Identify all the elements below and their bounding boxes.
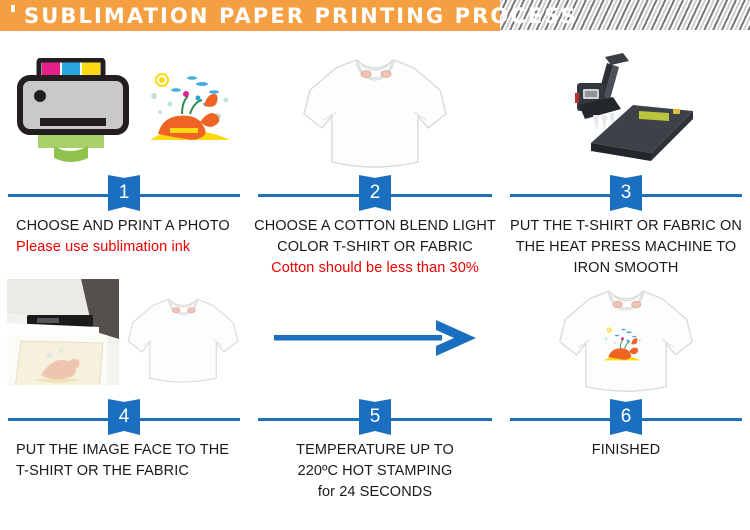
right-arrow-icon [270,314,480,362]
heat-press-machine-image [551,49,701,171]
step-2-caption-line-2: COLOR T-SHIRT OR FABRIC [250,237,500,258]
step-5-caption: TEMPERATURE UP TO 220ºC HOT STAMPING for… [250,430,500,503]
step-1: 1 CHOOSE AND PRINT A PHOTO Please use su… [0,36,248,264]
printed-sublimation-paper-photo [7,279,119,397]
step-5: 5 TEMPERATURE UP TO 220ºC HOT STAMPING f… [250,268,500,518]
step-2-artwork [250,36,500,184]
dinosaur-artwork-image [140,70,236,150]
step-1-caption: CHOOSE AND PRINT A PHOTO Please use subl… [0,206,248,258]
step-2: 2 CHOOSE A COTTON BLEND LIGHT COLOR T-SH… [250,36,500,264]
step-6-caption-line-1: FINISHED [502,440,750,461]
step-3-artwork [502,36,750,184]
step-1-note: Please use sublimation ink [16,237,248,258]
step-1-badge: 1 [108,175,140,211]
white-tshirt-image [125,284,241,392]
step-4-caption-line-1: PUT THE IMAGE FACE TO THE [16,440,248,461]
step-3: 3 PUT THE T-SHIRT OR FABRIC ON THE HEAT … [502,36,750,264]
step-6-badge: 6 [610,399,642,435]
finished-printed-tshirt-image [556,274,696,402]
step-1-artwork [0,36,248,184]
step-2-divider: 2 [250,184,500,206]
square-tick-icon [11,5,15,12]
step-4-artwork [0,268,248,408]
step-6-divider: 6 [502,408,750,430]
step-2-badge: 2 [359,175,391,211]
step-4-caption: PUT THE IMAGE FACE TO THE T-SHIRT OR THE… [0,430,248,482]
step-6: 6 FINISHED [502,268,750,518]
step-3-caption-line-2: THE HEAT PRESS MACHINE TO [502,237,750,258]
step-3-caption-line-1: PUT THE T-SHIRT OR FABRIC ON [502,216,750,237]
step-4-caption-line-2: T-SHIRT OR THE FABRIC [16,461,248,482]
steps-row-bottom: 4 PUT THE IMAGE FACE TO THE T-SHIRT OR T… [0,268,750,518]
steps-row-top: 1 CHOOSE AND PRINT A PHOTO Please use su… [0,36,750,264]
step-5-artwork [250,268,500,408]
inkjet-printer-icon [12,58,134,162]
step-5-caption-line-1: TEMPERATURE UP TO [250,440,500,461]
white-tshirt-image [300,46,450,174]
step-4: 4 PUT THE IMAGE FACE TO THE T-SHIRT OR T… [0,268,248,518]
step-5-caption-line-2: 220ºC HOT STAMPING [250,461,500,482]
page-title: SUBLIMATION PAPER PRINTING PROCESS [24,0,578,31]
step-5-badge: 5 [359,399,391,435]
step-3-badge: 3 [610,175,642,211]
infographic-page: SUBLIMATION PAPER PRINTING PROCESS [0,0,750,530]
step-1-caption-line-1: CHOOSE AND PRINT A PHOTO [16,216,248,237]
step-6-caption: FINISHED [502,430,750,461]
step-6-artwork [502,268,750,408]
step-5-caption-line-3: for 24 SECONDS [250,482,500,503]
step-4-badge: 4 [108,399,140,435]
step-2-caption-line-1: CHOOSE A COTTON BLEND LIGHT [250,216,500,237]
step-4-divider: 4 [0,408,248,430]
step-1-divider: 1 [0,184,248,206]
header: SUBLIMATION PAPER PRINTING PROCESS [0,0,750,32]
step-3-divider: 3 [502,184,750,206]
step-5-divider: 5 [250,408,500,430]
